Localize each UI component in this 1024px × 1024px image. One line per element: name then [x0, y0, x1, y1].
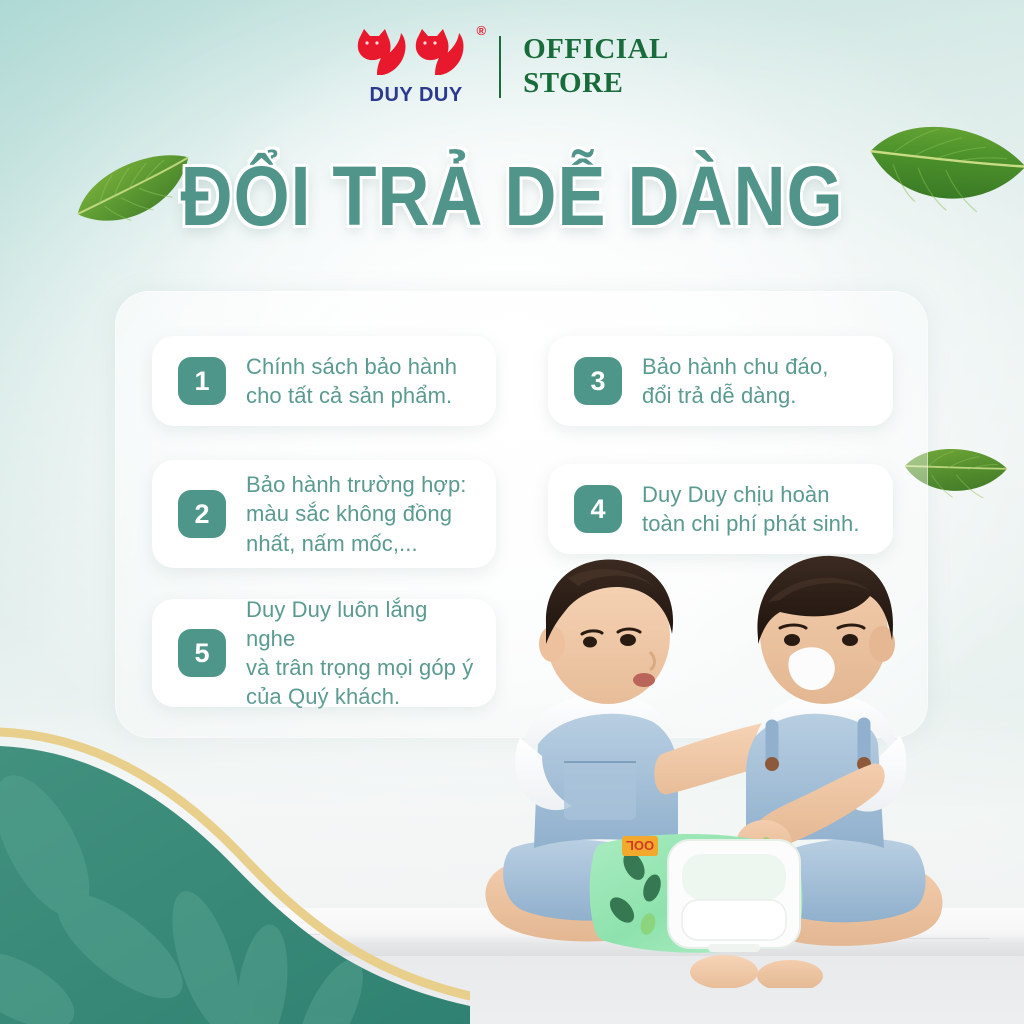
card-text: Bảo hành trường hợp: màu sắc không đồng … [246, 470, 467, 558]
brand-name: DUY DUY [370, 84, 463, 107]
duy-duy-cat-logo-icon: ® [355, 27, 477, 81]
banner-stage: ® DUY DUY OFFICIAL STORE ĐỔI TRẢ DỄ DÀNG… [0, 0, 1024, 1024]
benefit-card-3[interactable]: 3 Bảo hành chu đáo, đổi trả dễ dàng. [548, 336, 893, 426]
card-number-badge: 2 [178, 490, 226, 538]
card-number-badge: 1 [178, 357, 226, 405]
card-text: Bảo hành chu đáo, đổi trả dễ dàng. [642, 352, 828, 411]
wave-shape [0, 694, 470, 1024]
benefit-card-4[interactable]: 4 Duy Duy chịu hoàn toàn chi phí phát si… [548, 464, 893, 554]
card-number-badge: 4 [574, 485, 622, 533]
header-logo-bar: ® DUY DUY OFFICIAL STORE [0, 24, 1024, 110]
logo-divider [499, 36, 501, 98]
benefit-card-5[interactable]: 5 Duy Duy luôn lắng nghe và trân trọng m… [152, 599, 496, 707]
card-text: Chính sách bảo hành cho tất cả sản phẩm. [246, 352, 457, 411]
children-photo: OOL [472, 548, 952, 988]
official-line-2: STORE [523, 67, 669, 101]
svg-text:OOL: OOL [626, 838, 654, 853]
benefit-card-1[interactable]: 1 Chính sách bảo hành cho tất cả sản phẩ… [152, 336, 496, 426]
page-title: ĐỔI TRẢ DỄ DÀNG [72, 148, 953, 245]
registered-trademark-icon: ® [477, 24, 487, 37]
official-line-1: OFFICIAL [523, 33, 669, 67]
brand-mark[interactable]: ® DUY DUY [355, 27, 477, 107]
benefit-card-2[interactable]: 2 Bảo hành trường hợp: màu sắc không đồn… [152, 460, 496, 568]
card-number-badge: 5 [178, 629, 226, 677]
card-text: Duy Duy chịu hoàn toàn chi phí phát sinh… [642, 480, 860, 539]
card-number-badge: 3 [574, 357, 622, 405]
official-store-label: OFFICIAL STORE [523, 33, 669, 100]
